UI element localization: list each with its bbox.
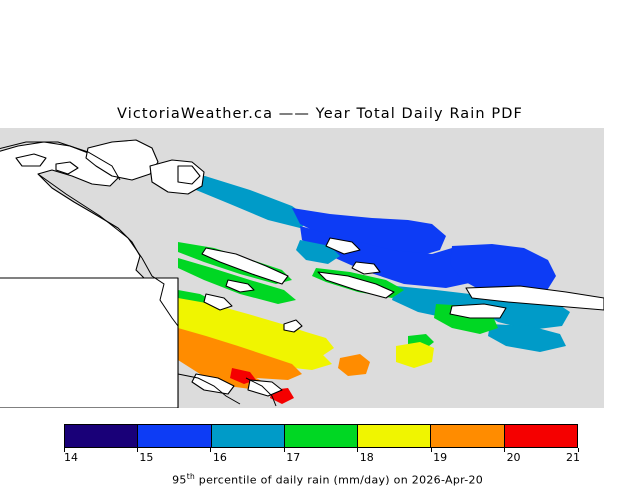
colorbar-segment-6 [505, 425, 577, 447]
land-left-mask [0, 278, 178, 408]
colorbar-segment-0 [65, 425, 138, 447]
caption-prefix: 95 [172, 474, 187, 487]
colorbar-segment-1 [138, 425, 211, 447]
map-plot-area [0, 128, 604, 408]
colorbar-segment-3 [285, 425, 358, 447]
colorbar-tickmark-18 [357, 448, 358, 452]
weather-map-page: VictoriaWeather.ca —— Year Total Daily R… [0, 0, 640, 480]
colorbar-segment-2 [212, 425, 285, 447]
colorbar-segment-4 [358, 425, 431, 447]
colorbar-tickmark-15 [137, 448, 138, 452]
colorbar-tickmark-16 [210, 448, 211, 452]
colorbar-segment-5 [431, 425, 504, 447]
map-svg [0, 128, 604, 408]
colorbar [64, 424, 578, 448]
colorbar-tickmark-20 [504, 448, 505, 452]
page-title: VictoriaWeather.ca —— Year Total Daily R… [0, 106, 640, 122]
caption-suffix: percentile of daily rain (mm/day) on 202… [195, 474, 483, 487]
colorbar-tickmark-17 [284, 448, 285, 452]
land-mainland-east-b [450, 304, 506, 318]
colorbar-tickmark-19 [431, 448, 432, 452]
colorbar-caption: 95th percentile of daily rain (mm/day) o… [0, 459, 640, 500]
